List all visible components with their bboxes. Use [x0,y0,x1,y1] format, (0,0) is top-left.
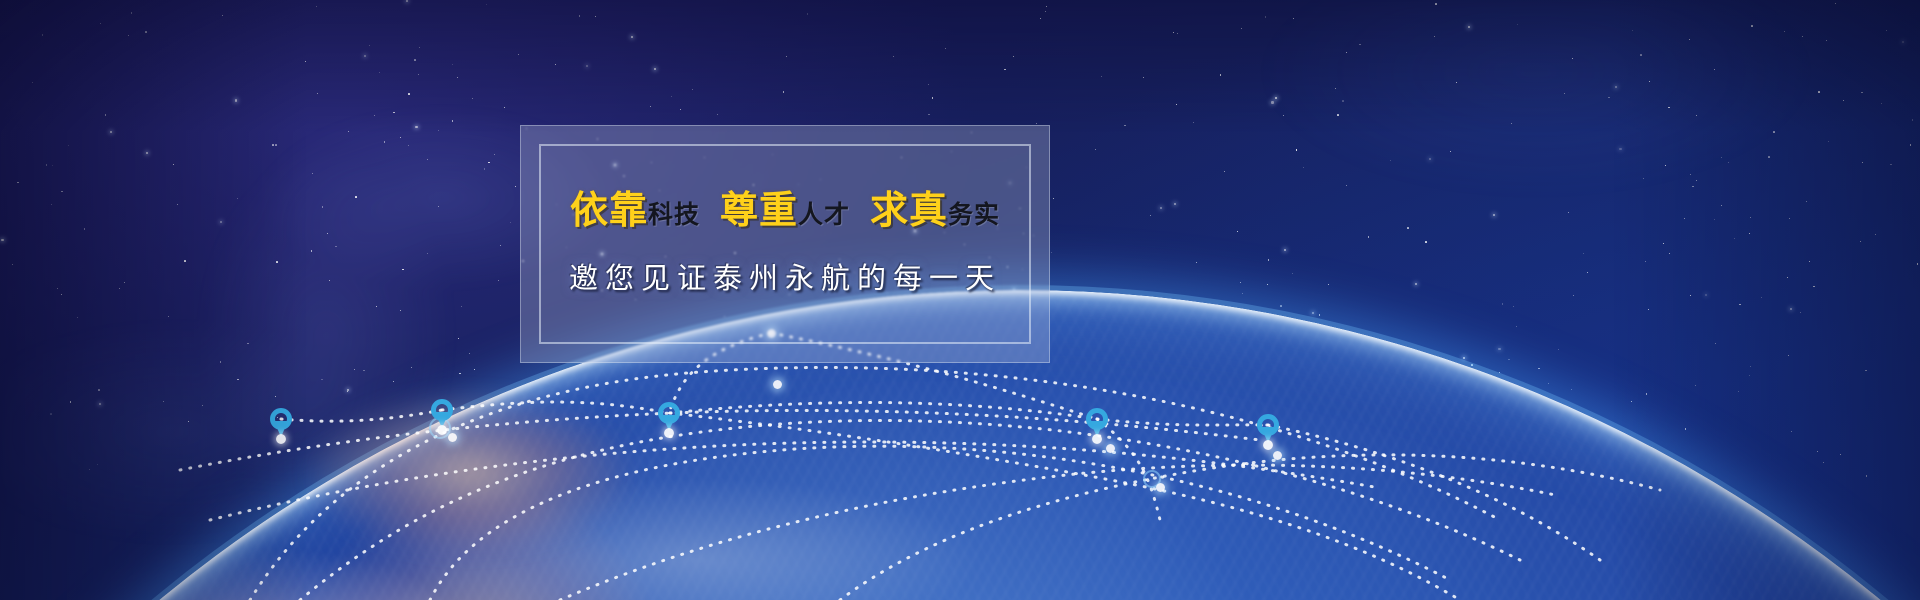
star [124,282,125,283]
star [1220,74,1222,76]
star [469,353,470,354]
star [1368,236,1370,238]
star [322,206,324,208]
star [1619,148,1621,150]
star [1761,297,1762,298]
star [1240,282,1241,283]
star [247,343,249,345]
star [427,253,428,254]
spot-far-east [1106,444,1115,453]
star [1346,185,1347,186]
star [1818,91,1820,93]
star [173,164,174,165]
star [1328,284,1329,285]
star [402,269,404,271]
star [52,165,53,166]
star [98,389,100,391]
star [1689,39,1690,40]
star [1789,218,1790,219]
star [110,131,112,133]
star [1095,149,1096,150]
star [650,106,651,107]
star [1826,40,1827,41]
star [1415,283,1417,285]
pin-north-atlantic[interactable] [431,399,453,421]
star [1791,431,1792,432]
star [498,280,500,282]
star [363,370,365,372]
star [461,306,462,307]
star [579,15,581,17]
star [393,112,395,114]
slogan-headline: 依靠科技尊重人才求真务实 [570,191,1000,229]
star [1840,454,1841,455]
star [84,228,86,230]
star [1750,217,1751,218]
star [1823,462,1824,463]
star [1813,286,1815,288]
star [1499,372,1500,373]
star [1800,312,1801,313]
star [316,6,317,7]
star [1517,24,1518,25]
star [105,114,107,116]
star [1685,428,1687,430]
star [1267,284,1269,286]
spot-south [1156,483,1165,492]
star [515,186,516,187]
star [1886,30,1887,31]
star [408,93,410,95]
star [1573,295,1574,296]
star [220,361,222,363]
star [347,391,348,392]
star [163,401,164,402]
star [945,48,946,49]
star [312,173,313,174]
pin-ground-dot [664,428,674,438]
star [1335,88,1336,89]
star [1646,393,1648,395]
star [1359,44,1361,46]
star [355,196,357,198]
star [70,401,72,403]
star [500,245,501,246]
star [1456,82,1457,83]
star [1835,3,1836,4]
star [1342,100,1344,102]
star [1721,157,1722,158]
star [1558,349,1559,350]
star [348,131,349,132]
star [1193,122,1195,124]
star [438,130,439,131]
star [671,96,672,97]
star [1271,101,1273,103]
star [1280,305,1282,307]
star [1242,293,1243,294]
star [1715,343,1717,345]
star [1890,164,1892,166]
star [438,206,439,207]
star [1268,259,1270,261]
star [1692,186,1694,188]
star [1912,119,1914,121]
star [1337,114,1339,116]
star [32,82,33,83]
star [237,198,238,199]
star [1881,103,1882,104]
star [311,250,313,252]
star [1583,253,1584,254]
star [1669,253,1670,254]
star [1784,31,1785,32]
star [408,145,409,146]
star [354,369,355,370]
star [364,55,366,57]
star [1902,41,1904,43]
star [1866,475,1868,477]
star [128,35,130,37]
star [168,316,169,317]
star [1665,165,1666,166]
star [100,23,101,24]
star [220,221,222,223]
star [1508,359,1510,361]
star [335,246,337,248]
star [77,317,78,318]
slogan-segment-1: 依靠 [570,191,648,229]
star [317,93,318,94]
star [131,12,133,14]
star [414,59,416,61]
star [504,107,505,108]
star [783,91,785,93]
star [680,109,681,110]
star [415,126,417,128]
star [272,144,274,146]
star [419,47,420,48]
star [177,204,178,205]
star [379,72,380,73]
slogan-segment-3: 尊重 [720,191,798,229]
star [1806,201,1807,202]
star [184,260,186,262]
star [275,144,277,146]
star [1053,198,1055,200]
star [1124,125,1126,127]
star [452,120,454,122]
star [459,373,461,375]
star [1668,107,1670,109]
pin-ground-dot [437,425,447,435]
star [327,233,328,234]
star [807,13,809,15]
star [1768,156,1770,158]
star [1649,81,1650,82]
star [374,115,375,116]
star [61,191,63,193]
star [1631,401,1632,402]
slogan-segment-4: 人才 [798,202,850,227]
star [1,239,3,241]
star [1645,261,1646,262]
star [188,421,189,422]
spot-oceania [1273,451,1282,460]
star [61,294,62,295]
star [1237,231,1238,232]
star [1051,252,1053,254]
star [932,97,934,99]
star [1749,233,1750,234]
star [1734,238,1735,239]
star [1548,383,1550,385]
star [376,306,377,307]
star [893,56,895,58]
star [510,222,511,223]
star [1643,178,1644,179]
star [57,288,58,289]
star [1865,370,1867,372]
star [1434,36,1435,37]
star [1632,30,1634,32]
star [1648,309,1649,310]
star [42,34,44,36]
star [1790,308,1792,310]
star [1040,18,1041,19]
star [472,98,473,99]
star [1429,158,1431,160]
star [1587,272,1589,274]
star [1696,115,1697,116]
star [1696,180,1697,181]
star [1150,215,1151,216]
star [235,99,237,101]
star [1690,295,1691,296]
star [17,182,19,184]
star [1143,77,1144,78]
star [1046,6,1047,7]
star [406,0,408,2]
star [1176,104,1177,105]
star [202,405,203,406]
pin-east-asia[interactable] [1086,408,1108,430]
star [1714,219,1715,220]
star [1502,303,1504,305]
star [89,469,90,470]
star [488,162,490,164]
star [1738,391,1739,392]
star [1283,115,1284,116]
star [51,204,53,206]
star [1265,16,1267,18]
star [1862,162,1864,164]
star [12,264,13,265]
star [369,45,371,47]
star [145,31,147,33]
star [486,4,487,5]
star [1511,123,1512,124]
star [1684,218,1685,219]
star [1572,58,1573,59]
star [1284,249,1286,251]
star [1615,86,1617,88]
star [1174,203,1176,205]
star [1463,357,1465,359]
star [1788,355,1789,356]
star [276,261,278,263]
star [384,141,386,143]
star [786,56,787,57]
star [1809,261,1811,263]
star [1303,167,1305,169]
star [1690,174,1691,175]
spot-coastal [448,433,457,442]
star [928,114,930,116]
star [457,77,458,78]
star [1608,97,1610,99]
star [411,367,412,368]
star [1739,304,1741,306]
star [1843,100,1844,101]
star [1450,151,1451,152]
star [50,413,52,415]
star [1787,277,1788,278]
star [427,159,428,160]
pin-southeast-asia[interactable] [1257,414,1279,436]
star [1292,273,1293,274]
star [1728,162,1729,163]
star [68,145,69,146]
star [329,280,330,281]
star [97,464,98,465]
star [1516,326,1517,327]
star [1750,366,1751,367]
star [692,89,693,90]
star [1875,234,1876,235]
star [99,403,101,405]
star [1910,144,1912,146]
slogan-segment-5: 求真 [870,191,948,229]
star [1695,385,1696,386]
star [595,16,596,17]
slogan-subline: 邀您见证泰州永航的每一天 [569,255,1001,297]
star [146,152,148,154]
star [555,64,556,65]
star [1773,131,1775,133]
star [1390,160,1391,161]
star [1564,93,1565,94]
star [275,396,276,397]
star [418,74,419,75]
star [1468,26,1470,28]
star [1435,3,1437,5]
star [1407,227,1409,229]
star [631,36,633,38]
star [1045,11,1046,12]
message-panel: 依靠科技尊重人才求真务实 邀您见证泰州永航的每一天 [520,125,1050,363]
star [400,137,401,138]
spot-mid-atlantic [773,380,782,389]
star [1714,69,1715,70]
star [928,84,929,85]
pin-ground-dot [1263,440,1273,450]
star [1802,36,1803,37]
slogan-segment-6: 务实 [948,202,1000,227]
star [393,381,394,382]
star [1319,314,1321,316]
star [1749,375,1750,376]
star [1004,69,1006,71]
star [1101,76,1102,77]
star [1293,18,1294,19]
star [654,68,656,70]
star [1312,312,1314,314]
star [586,65,588,67]
star [518,54,519,55]
star [237,379,239,381]
star [1817,451,1818,452]
star [474,369,475,370]
pin-ground-dot [276,434,286,444]
star [1241,28,1242,29]
star [119,288,120,289]
star [321,379,323,381]
slogan-segment-2: 科技 [648,202,700,227]
star [1471,364,1473,366]
star [1177,33,1178,34]
star [1860,241,1861,242]
star [1425,241,1427,243]
star [1538,368,1540,370]
star [1568,212,1569,213]
star [305,61,306,62]
star [1173,32,1174,33]
star [1498,348,1500,350]
star [1036,123,1037,124]
star [1160,207,1162,209]
star [1493,214,1495,216]
pin-europe-hub[interactable] [658,402,680,424]
star [1275,97,1277,99]
star [452,64,454,66]
star [1513,306,1515,308]
star [1721,205,1722,206]
star [1346,52,1347,53]
star [484,168,486,170]
star [1751,25,1753,27]
star [1296,149,1298,151]
star [1571,389,1572,390]
star [1196,262,1197,263]
star [46,164,48,166]
star [1640,54,1642,56]
star [717,114,718,115]
pin-west-america[interactable] [270,408,292,430]
star [1828,141,1830,143]
star [1663,243,1665,245]
star [222,15,223,16]
star [1705,294,1707,296]
star [494,154,496,156]
pin-ground-dot [1092,434,1102,444]
star [458,338,460,340]
message-panel-content: 依靠科技尊重人才求真务实 邀您见证泰州永航的每一天 [521,126,1049,362]
star [1861,92,1863,94]
star [400,310,401,311]
star [1224,171,1225,172]
star [1917,263,1919,265]
